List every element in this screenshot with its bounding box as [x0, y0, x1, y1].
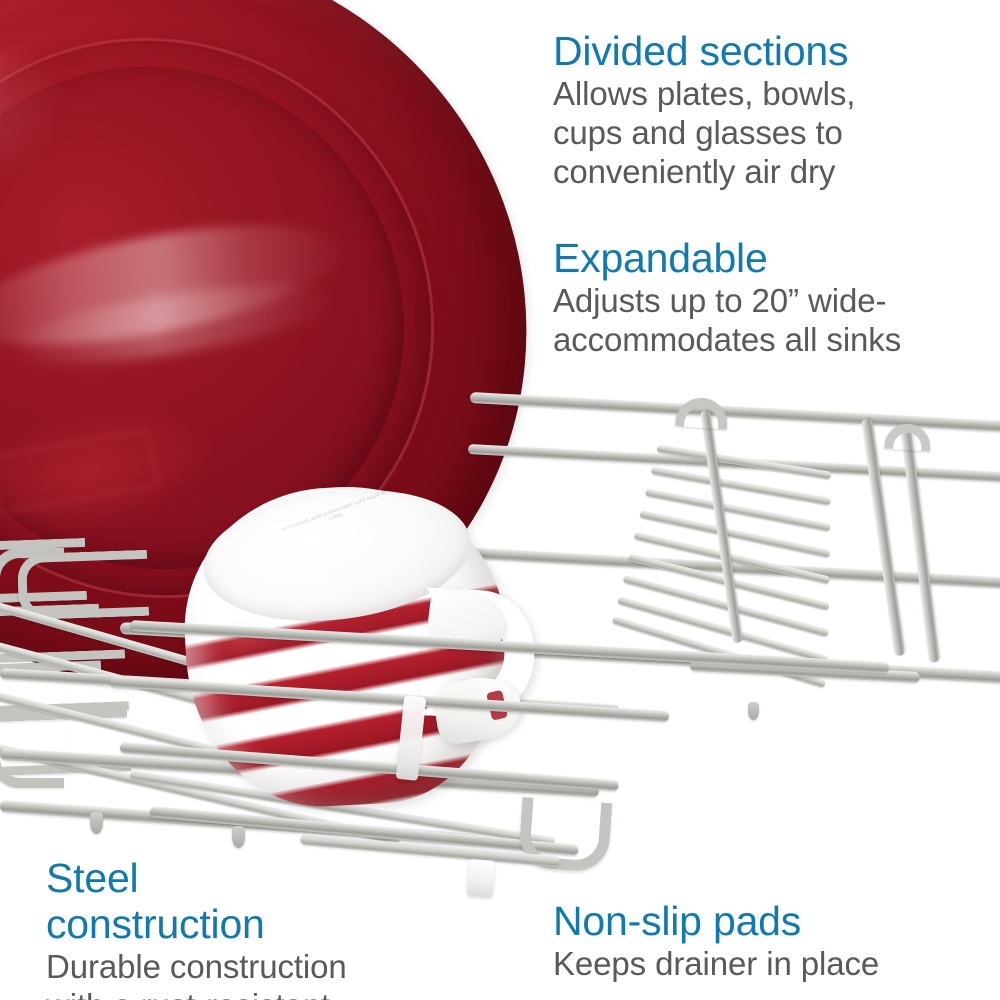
- rack-foot: [748, 702, 759, 720]
- rack-foot: [90, 812, 103, 834]
- panel-slat: [639, 510, 830, 558]
- callout-body: Adjusts up to 20” wide- accommodates all…: [553, 281, 991, 359]
- callout-heading: Steel construction: [46, 855, 446, 947]
- callout-body: Durable construction with a rust-resista…: [46, 947, 446, 1000]
- callout-body: Allows plates, bowls, cups and glasses t…: [553, 74, 983, 191]
- callout-expandable: Expandable Adjusts up to 20” wide- accom…: [553, 235, 991, 359]
- callout-steel-construction: Steel construction Durable construction …: [46, 855, 446, 1000]
- non-slip-pad: [467, 859, 495, 897]
- rack-corner-bend-left: [0, 548, 64, 788]
- callout-body: Keeps drainer in place: [553, 944, 983, 983]
- callout-divided-sections: Divided sections Allows plates, bowls, c…: [553, 28, 983, 191]
- callout-heading: Divided sections: [553, 28, 983, 74]
- callout-heading: Non-slip pads: [553, 898, 983, 944]
- callout-non-slip-pads: Non-slip pads Keeps drainer in place: [553, 898, 983, 983]
- rack-foot: [232, 826, 245, 848]
- callout-heading: Expandable: [553, 235, 991, 281]
- infographic-canvas: MICROWAVE SAFE DISHWASHER SAFE MADE IN C…: [0, 0, 1000, 1000]
